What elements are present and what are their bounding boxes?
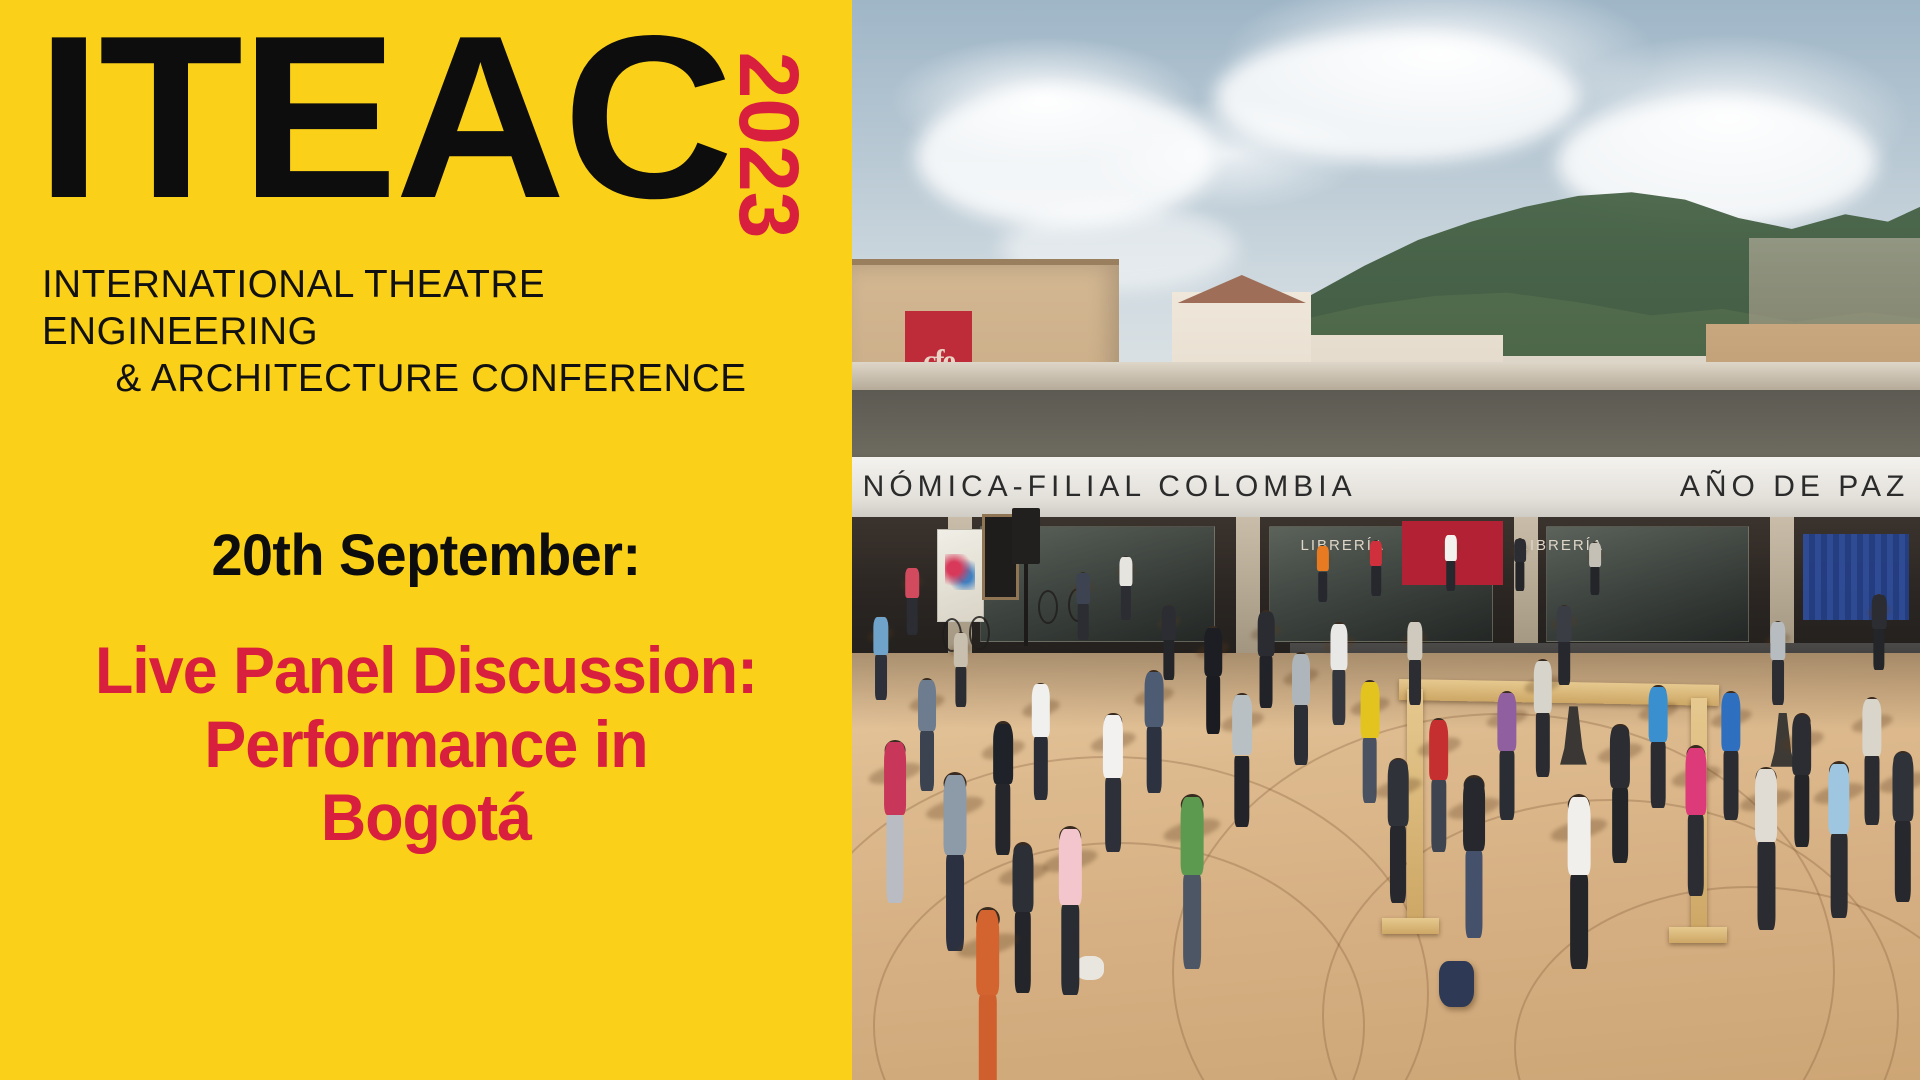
person: [1103, 713, 1123, 870]
person: [1181, 794, 1204, 968]
person: [1232, 693, 1252, 847]
plaza-shadow: [852, 653, 1920, 729]
person-torso: [1649, 687, 1668, 742]
person-torso: [1892, 753, 1913, 821]
person-legs: [1446, 561, 1456, 591]
person-torso: [1181, 797, 1204, 876]
person: [1162, 605, 1176, 724]
bicycle-wheel: [969, 616, 989, 651]
person: [944, 772, 967, 948]
person-torso: [1770, 622, 1785, 660]
person-legs: [1033, 737, 1047, 800]
person: [1012, 842, 1033, 1005]
person-legs: [1318, 572, 1328, 602]
person-legs: [920, 731, 934, 791]
person: [1792, 713, 1812, 867]
person-legs: [1390, 826, 1406, 904]
signage-right-text: AÑO DE PAZ: [1680, 470, 1909, 504]
person: [1429, 718, 1449, 872]
person-legs: [1874, 629, 1885, 670]
person-legs: [955, 667, 966, 708]
person-torso: [1514, 539, 1526, 563]
event-title-line-3: Bogotá: [38, 781, 813, 855]
person-torso: [1568, 797, 1591, 876]
person-torso: [905, 568, 919, 598]
person-legs: [1895, 821, 1911, 902]
event-details: 20th September: Live Panel Discussion: P…: [0, 525, 852, 855]
person-legs: [1105, 778, 1121, 853]
person: [1076, 572, 1090, 685]
backpack-on-ground: [1439, 961, 1473, 1006]
person-legs: [1014, 912, 1030, 993]
person-legs: [1772, 660, 1784, 705]
person-torso: [884, 742, 906, 815]
person-legs: [1332, 670, 1345, 725]
person-torso: [1610, 726, 1630, 789]
person: [976, 907, 1000, 1080]
person: [1756, 767, 1778, 935]
event-date: 20th September:: [34, 525, 817, 588]
person: [1610, 724, 1630, 881]
person: [1649, 685, 1668, 833]
person: [1892, 751, 1913, 914]
person: [1721, 691, 1740, 842]
person-torso: [918, 680, 936, 731]
brand-wordmark-row: ITEAC 2023: [36, 18, 846, 252]
person-legs: [995, 784, 1010, 856]
speaker-stand: [1024, 564, 1028, 646]
person-torso: [873, 617, 888, 655]
person-torso: [1076, 573, 1090, 603]
brand-subtitle-line-1: INTERNATIONAL THEATRE ENGINEERING: [36, 262, 826, 356]
person-torso: [1388, 760, 1409, 825]
person-torso: [1557, 606, 1572, 642]
person: [1258, 610, 1275, 743]
person-legs: [1078, 604, 1089, 640]
person: [1119, 556, 1132, 666]
bicycle-wheel: [1038, 590, 1058, 625]
person-legs: [1590, 567, 1599, 595]
person-torso: [953, 633, 967, 667]
cloud-shape: [916, 86, 1215, 226]
person: [1292, 652, 1310, 794]
person-torso: [1360, 682, 1379, 737]
person-legs: [1570, 875, 1588, 969]
person-torso: [1533, 661, 1551, 714]
wood-foot: [1669, 927, 1727, 943]
person: [1862, 697, 1881, 848]
person: [1059, 826, 1081, 997]
person-legs: [886, 815, 903, 902]
person-torso: [944, 775, 967, 855]
person: [1317, 545, 1329, 649]
wood-foot: [1382, 918, 1440, 934]
pa-speaker: [1012, 508, 1040, 564]
person-legs: [1062, 905, 1079, 996]
person-legs: [1687, 815, 1703, 896]
blue-seating-block: [1803, 534, 1910, 620]
person-torso: [976, 910, 1000, 994]
signage-main-text: NÓMICA-FILIAL COLOMBIA: [863, 470, 1357, 504]
person-torso: [1119, 557, 1132, 586]
person-legs: [1499, 751, 1514, 820]
person-torso: [1012, 845, 1033, 913]
person-legs: [1535, 713, 1549, 776]
person: [1533, 659, 1551, 804]
person-legs: [1651, 742, 1666, 808]
person-legs: [1612, 788, 1628, 863]
person-torso: [993, 724, 1013, 784]
person: [1445, 535, 1457, 639]
person: [918, 678, 936, 820]
person: [1204, 626, 1222, 765]
cloud-shape: [1215, 32, 1578, 162]
person: [1031, 683, 1049, 828]
person-torso: [1685, 748, 1706, 816]
person: [1407, 621, 1422, 745]
person-legs: [1758, 842, 1775, 929]
yellow-info-panel: ITEAC 2023 INTERNATIONAL THEATRE ENGINEE…: [0, 0, 852, 1080]
bogota-plaza-photo: cfe NÓMICA-FILIAL COLOMBIA AÑO DE PAZ LI: [852, 0, 1920, 1080]
person-torso: [1232, 695, 1252, 755]
person-legs: [1864, 756, 1879, 825]
person: [1568, 794, 1591, 968]
person: [1388, 758, 1409, 918]
person-legs: [1120, 586, 1130, 620]
person-torso: [1317, 546, 1329, 571]
person-legs: [1234, 756, 1249, 828]
person-legs: [1147, 727, 1162, 793]
person-torso: [1463, 778, 1485, 851]
arcade-canopy: [852, 362, 1920, 390]
arcade-underside: [852, 390, 1920, 459]
wall-poster: [937, 529, 984, 622]
person-torso: [1721, 693, 1740, 751]
person-torso: [1497, 693, 1516, 751]
person-legs: [1183, 875, 1201, 969]
person-legs: [1465, 851, 1482, 938]
person-torso: [1162, 606, 1176, 640]
person-torso: [1828, 764, 1849, 834]
person: [1514, 538, 1526, 639]
brand-acronym: ITEAC: [36, 18, 731, 218]
person-legs: [1294, 705, 1308, 765]
person-legs: [1409, 660, 1421, 705]
person-legs: [1515, 562, 1524, 590]
person-torso: [1258, 612, 1275, 656]
person: [1770, 621, 1785, 745]
brand-year-wrap: 2023: [723, 38, 815, 252]
person: [1557, 605, 1572, 726]
person-torso: [1445, 535, 1457, 560]
person: [1589, 542, 1601, 643]
person-torso: [1145, 672, 1164, 727]
person-torso: [1872, 595, 1886, 629]
person-torso: [1103, 715, 1123, 778]
brand-year: 2023: [727, 52, 811, 239]
person-torso: [1407, 622, 1422, 660]
person: [953, 632, 967, 751]
person-legs: [946, 855, 964, 951]
person: [1145, 670, 1164, 818]
event-title: Live Panel Discussion: Performance in Bo…: [38, 634, 813, 856]
person: [873, 616, 888, 740]
person-legs: [907, 598, 918, 634]
person: [905, 567, 919, 680]
person-torso: [1370, 541, 1382, 566]
person: [1463, 775, 1485, 943]
event-poster: ITEAC 2023 INTERNATIONAL THEATRE ENGINEE…: [0, 0, 1920, 1080]
person-torso: [1059, 829, 1081, 905]
brand-subtitle: INTERNATIONAL THEATRE ENGINEERING & ARCH…: [36, 262, 826, 403]
person-legs: [1206, 676, 1220, 734]
person-torso: [1589, 543, 1601, 567]
person: [1360, 680, 1379, 828]
brand-lockup: ITEAC 2023 INTERNATIONAL THEATRE ENGINEE…: [36, 18, 846, 403]
person-torso: [1292, 654, 1310, 705]
person: [1497, 691, 1516, 842]
person-torso: [1792, 715, 1812, 775]
person-legs: [1371, 566, 1381, 596]
brand-subtitle-line-2: & ARCHITECTURE CONFERENCE: [36, 356, 826, 403]
person: [1872, 594, 1886, 713]
person-legs: [1260, 656, 1273, 708]
person: [1828, 761, 1849, 927]
person-legs: [1831, 834, 1848, 918]
person-torso: [1031, 684, 1049, 737]
person-torso: [1756, 769, 1778, 842]
event-title-line-1: Live Panel Discussion:: [38, 634, 813, 708]
distant-city-strip: [1749, 238, 1920, 335]
person: [1330, 622, 1347, 758]
person: [993, 721, 1013, 875]
person: [884, 740, 906, 908]
person-legs: [1163, 640, 1174, 681]
person: [1685, 745, 1706, 908]
event-title-line-2: Performance in: [38, 708, 813, 782]
person-legs: [875, 655, 887, 700]
person-legs: [1723, 751, 1738, 820]
person-legs: [1794, 775, 1809, 847]
person-legs: [1431, 780, 1446, 852]
person-legs: [978, 995, 996, 1080]
person-torso: [1204, 628, 1222, 676]
person-legs: [1559, 642, 1571, 685]
person-torso: [1330, 624, 1347, 670]
person: [1370, 540, 1382, 644]
person-torso: [1429, 720, 1449, 780]
